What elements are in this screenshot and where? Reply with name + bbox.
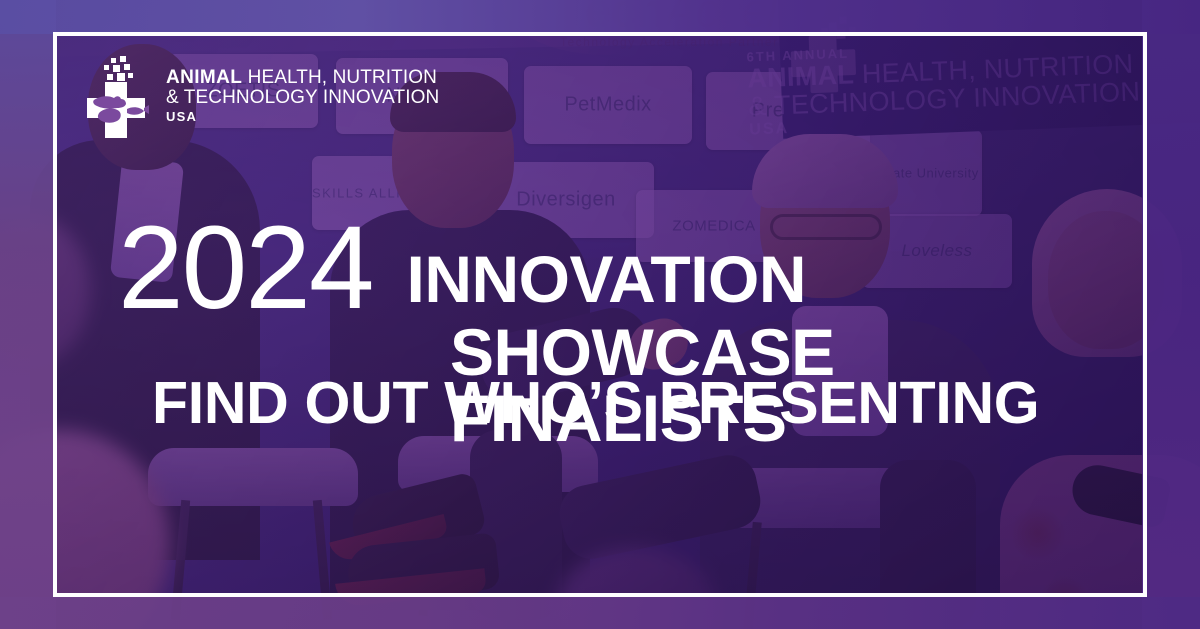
headline-innovation: INNOVATION: [407, 246, 807, 312]
animal-health-cross-logo-icon: [80, 56, 152, 140]
headline-row-one: 2024 INNOVATION: [118, 214, 1108, 323]
headline-year: 2024: [118, 214, 373, 323]
logo-word-usa: USA: [166, 110, 439, 123]
brand-logo-text: ANIMAL HEALTH, NUTRITION & TECHNOLOGY IN…: [166, 56, 439, 124]
logo-word-technology: & TECHNOLOGY INNOVATION: [166, 88, 439, 108]
promo-content: ANIMAL HEALTH, NUTRITION & TECHNOLOGY IN…: [0, 0, 1200, 629]
promo-graphic: ZOETIS NEXUS PetMedix Prelude SKILLS ALL…: [0, 0, 1200, 629]
headline-subline: FIND OUT WHO’S PRESENTING: [152, 374, 1039, 433]
brand-logo-lockup: ANIMAL HEALTH, NUTRITION & TECHNOLOGY IN…: [80, 56, 439, 140]
logo-word-health: HEALTH, NUTRITION: [242, 67, 437, 88]
logo-word-animal: ANIMAL: [166, 67, 242, 88]
